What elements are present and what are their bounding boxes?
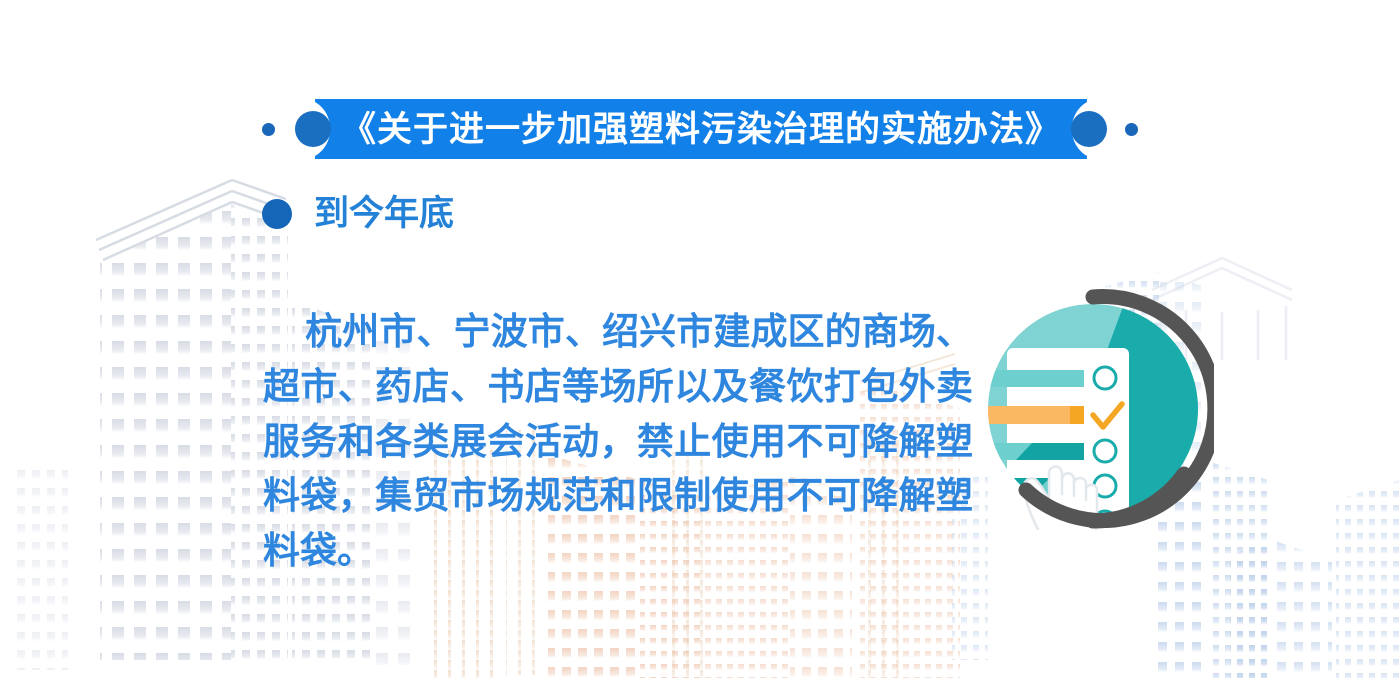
checklist-row-1 [978, 367, 1116, 389]
building-left-tall [96, 180, 288, 660]
checklist-row-3 [979, 440, 1116, 462]
banner-body: 《关于进一步加强塑料污染治理的实施办法》 [315, 99, 1087, 159]
checklist-circle-illustration [972, 288, 1214, 530]
section-heading: 到今年底 [262, 196, 454, 231]
heading-bullet-icon [262, 199, 292, 229]
banner-left-large-dot [295, 111, 331, 147]
body-paragraph: 杭州市、宁波市、绍兴市建成区的商场、超市、药店、书店等场所以及餐饮打包外卖服务和… [263, 305, 973, 579]
banner-title-text: 《关于进一步加强塑料污染治理的实施办法》 [341, 112, 1061, 147]
paragraph-text: 杭州市、宁波市、绍兴市建成区的商场、超市、药店、书店等场所以及餐饮打包外卖服务和… [263, 311, 973, 571]
building-far-right [1210, 462, 1268, 678]
banner-right-small-dot [1125, 123, 1138, 136]
building-left-edge [10, 470, 68, 670]
banner-left-small-dot [262, 123, 275, 136]
heading-label: 到今年底 [314, 196, 454, 231]
title-banner: 《关于进一步加强塑料污染治理的实施办法》 [0, 96, 1400, 162]
infographic-slide: 《关于进一步加强塑料污染治理的实施办法》 到今年底 杭州市、宁波市、绍兴市建成区… [0, 0, 1400, 700]
banner-right-large-dot [1071, 111, 1107, 147]
